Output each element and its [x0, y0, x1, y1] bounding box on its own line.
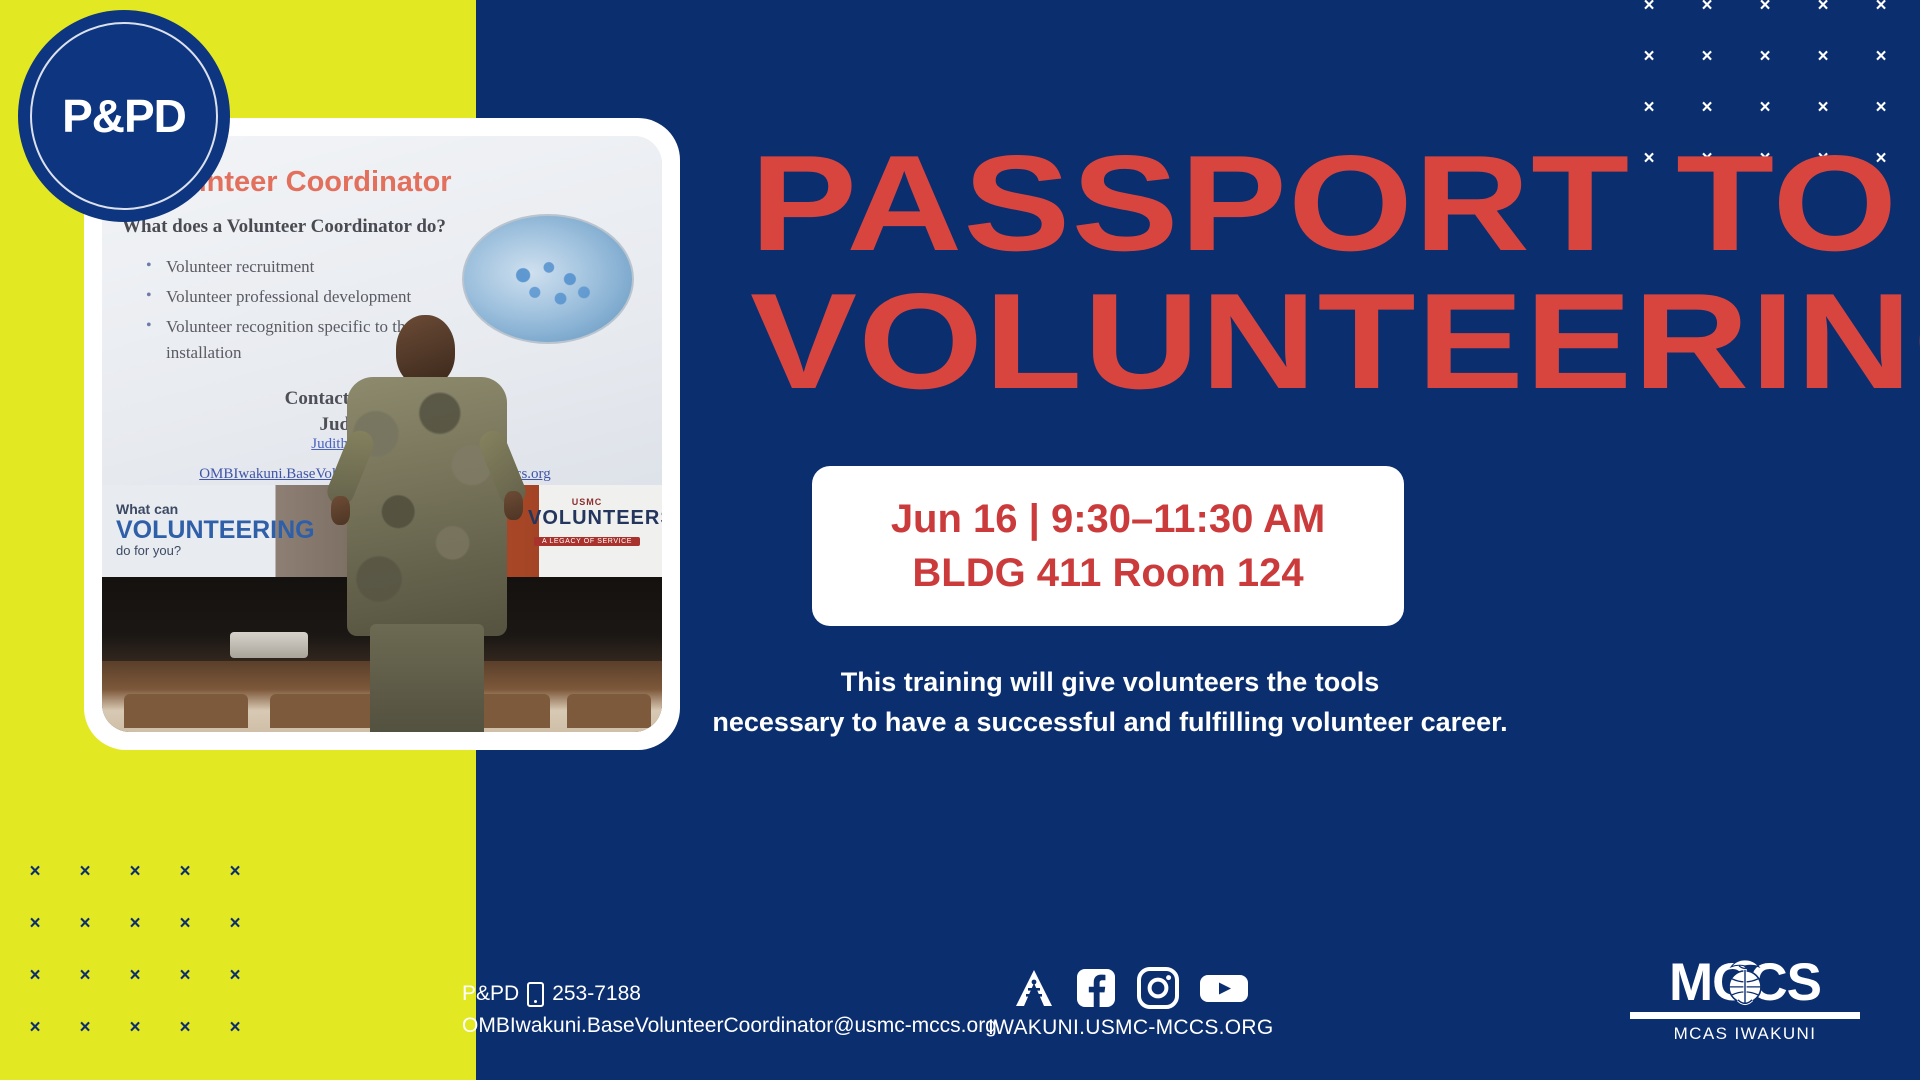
seat: [567, 694, 651, 728]
slide-strip-text: What can VOLUNTEERING do for you?: [116, 501, 315, 558]
website-url[interactable]: IWAKUNI.USMC-MCCS.ORG: [988, 1016, 1274, 1040]
contact-org: P&PD: [462, 978, 519, 1010]
strip-line-3: do for you?: [116, 543, 315, 558]
presenter-figure: [332, 315, 522, 732]
mccs-rule: [1630, 1012, 1860, 1019]
event-photo-card: Volunteer Coordinator What does a Volunt…: [84, 118, 680, 750]
ppd-logo-badge: P&PD: [18, 10, 230, 222]
contact-block: P&PD 253-7188 OMBIwakuni.BaseVolunteerCo…: [462, 978, 997, 1042]
facebook-icon[interactable]: [1074, 966, 1118, 1010]
slide-volunteers-badge: USMC VOLUNTEERS A LEGACY OF SERVICE: [528, 497, 646, 548]
event-location: BLDG 411 Room 124: [912, 546, 1303, 600]
mccs-subtitle: MCAS IWAKUNI: [1630, 1024, 1860, 1044]
mccs-logo: MCCS MCAS IWAKUNI: [1630, 955, 1860, 1044]
event-photo: Volunteer Coordinator What does a Volunt…: [102, 136, 662, 732]
strip-badge-top: USMC: [528, 497, 646, 507]
poster-canvas: ×××××××××××××××××××× ×××××××××××××××××××…: [0, 0, 1920, 1080]
strip-line-1: What can: [116, 501, 315, 517]
seat: [124, 694, 247, 728]
presenter-legs: [370, 624, 484, 732]
headline-line-1: PASSPORT TO: [750, 146, 1920, 260]
mccs-app-icon[interactable]: [1012, 966, 1056, 1010]
presenter-head: [396, 315, 455, 386]
mobile-phone-icon: [527, 982, 544, 1007]
strip-badge-sub: A LEGACY OF SERVICE: [534, 537, 640, 546]
social-icon-row: [1012, 966, 1250, 1010]
slide-bullet: Volunteer professional development: [144, 284, 474, 310]
contact-email[interactable]: OMBIwakuni.BaseVolunteerCoordinator@usmc…: [462, 1010, 997, 1042]
slide-bullet: Volunteer recruitment: [144, 254, 474, 280]
page-title: PASSPORT TO VOLUNTEERING: [750, 146, 1870, 398]
ppd-logo-text: P&PD: [62, 89, 186, 143]
eagle-globe-anchor-icon: [1718, 954, 1772, 1010]
youtube-icon[interactable]: [1198, 966, 1250, 1010]
event-description: This training will give volunteers the t…: [690, 662, 1530, 742]
mccs-wordmark: MCCS: [1630, 955, 1860, 1011]
instagram-icon[interactable]: [1136, 966, 1180, 1010]
description-line-1: This training will give volunteers the t…: [690, 662, 1530, 702]
strip-line-2: VOLUNTEERING: [116, 517, 315, 543]
presenter-hand-right: [504, 491, 523, 519]
contact-phone: 253-7188: [552, 978, 641, 1010]
strip-badge-main: VOLUNTEERS: [528, 507, 646, 530]
projector-device: [230, 632, 308, 658]
presenter-hand-left: [331, 496, 350, 524]
description-line-2: necessary to have a successful and fulfi…: [690, 702, 1530, 742]
event-details-card: Jun 16 | 9:30–11:30 AM BLDG 411 Room 124: [812, 466, 1404, 626]
footer: P&PD 253-7188 OMBIwakuni.BaseVolunteerCo…: [0, 930, 1920, 1080]
event-datetime: Jun 16 | 9:30–11:30 AM: [891, 492, 1325, 546]
social-block: IWAKUNI.USMC-MCCS.ORG: [988, 966, 1274, 1040]
headline-line-2: VOLUNTEERING: [750, 284, 1920, 398]
presenter-uniform: [347, 377, 507, 636]
slide-question: What does a Volunteer Coordinator do?: [122, 216, 446, 238]
phone-line: P&PD 253-7188: [462, 978, 997, 1010]
presenter-arm-left: [324, 427, 378, 509]
